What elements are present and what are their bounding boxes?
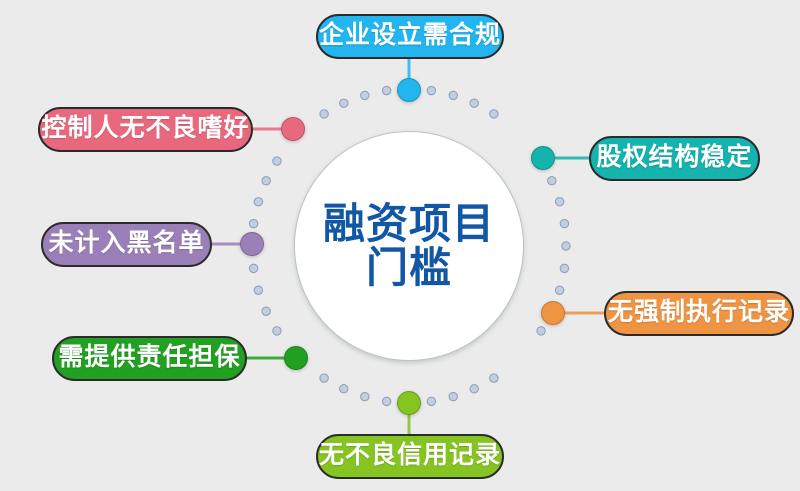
marker-node-upper-left[interactable] bbox=[281, 117, 305, 141]
center-title-line1: 融资项目 bbox=[323, 199, 495, 248]
marker-node-bottom[interactable] bbox=[397, 391, 421, 415]
ring-dot bbox=[470, 385, 478, 393]
marker-node-top[interactable] bbox=[397, 78, 421, 102]
pill-node-lower-left[interactable]: 需提供责任担保 bbox=[52, 336, 247, 381]
ring-dot bbox=[555, 286, 563, 294]
ring-dot bbox=[262, 177, 270, 185]
ring-dot bbox=[382, 397, 390, 405]
ring-dot bbox=[340, 99, 348, 107]
ring-dot bbox=[254, 286, 262, 294]
marker-node-lower-left[interactable] bbox=[284, 346, 308, 370]
pill-node-upper-right[interactable]: 股权结构稳定 bbox=[589, 136, 760, 181]
pill-label: 控制人无不良嗜好 bbox=[42, 115, 250, 142]
ring-dot bbox=[490, 110, 498, 118]
ring-dot bbox=[427, 397, 435, 405]
pill-label: 企业设立需合规 bbox=[319, 22, 501, 49]
pill-node-left[interactable]: 未计入黑名单 bbox=[41, 222, 212, 267]
ring-dot bbox=[254, 198, 262, 206]
ring-dot bbox=[273, 327, 281, 335]
pill-label: 无不良信用记录 bbox=[319, 442, 501, 469]
ring-dot bbox=[382, 86, 390, 94]
pill-node-lower-right[interactable]: 无强制执行记录 bbox=[604, 291, 794, 336]
center-hub: 融资项目 门槛 bbox=[294, 131, 524, 361]
ring-dot bbox=[361, 392, 369, 400]
pill-label: 无强制执行记录 bbox=[608, 299, 790, 326]
ring-dot bbox=[361, 91, 369, 99]
ring-dot bbox=[340, 385, 348, 393]
center-title: 融资项目 门槛 bbox=[323, 202, 495, 289]
pill-node-bottom[interactable]: 无不良信用记录 bbox=[316, 434, 504, 479]
pill-label: 需提供责任担保 bbox=[59, 344, 241, 371]
pill-label: 股权结构稳定 bbox=[597, 144, 753, 171]
ring-dot bbox=[320, 374, 328, 382]
ring-dot bbox=[560, 219, 568, 227]
marker-node-lower-right[interactable] bbox=[541, 301, 565, 325]
ring-dot bbox=[449, 392, 457, 400]
center-title-line2: 门槛 bbox=[323, 246, 495, 290]
ring-dot bbox=[449, 91, 457, 99]
pill-node-top[interactable]: 企业设立需合规 bbox=[316, 14, 504, 59]
ring-dot bbox=[427, 86, 435, 94]
diagram-canvas: 融资项目 门槛 企业设立需合规控制人无不良嗜好未计入黑名单需提供责任担保无不良信… bbox=[0, 0, 800, 491]
ring-dot bbox=[249, 264, 257, 272]
marker-node-left[interactable] bbox=[240, 232, 264, 256]
pill-label: 未计入黑名单 bbox=[49, 230, 205, 257]
pill-node-upper-left[interactable]: 控制人无不良嗜好 bbox=[38, 107, 253, 152]
ring-dot bbox=[537, 327, 545, 335]
ring-dot bbox=[262, 307, 270, 315]
marker-node-upper-right[interactable] bbox=[531, 146, 555, 170]
ring-dot bbox=[548, 177, 556, 185]
ring-dot bbox=[562, 242, 570, 250]
ring-dot bbox=[470, 99, 478, 107]
ring-dot bbox=[320, 110, 328, 118]
ring-dot bbox=[273, 157, 281, 165]
ring-dot bbox=[560, 264, 568, 272]
ring-dot bbox=[249, 219, 257, 227]
ring-dot bbox=[555, 198, 563, 206]
ring-dot bbox=[490, 374, 498, 382]
